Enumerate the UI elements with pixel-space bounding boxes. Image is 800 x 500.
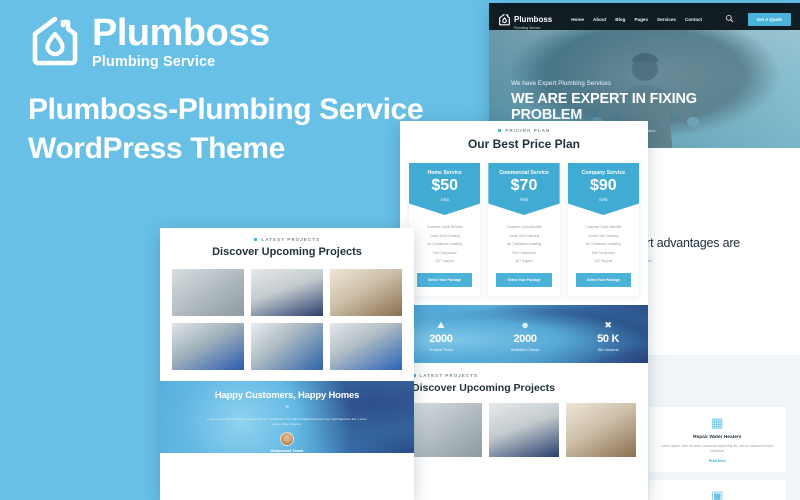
pricing-eyebrow-label: PRICING PLAN: [505, 128, 550, 133]
projects-eyebrow-label: LATEST PROJECTS: [261, 237, 320, 242]
project-image[interactable]: [251, 269, 323, 316]
plan-name: Home Service: [411, 170, 478, 176]
house-waterdrop-icon: [498, 13, 511, 26]
service-read-more[interactable]: Read More: [656, 459, 780, 463]
helmet-icon: ⛰: [429, 321, 453, 330]
nav-item-blog[interactable]: Blog: [615, 17, 625, 22]
testimonial-title: Happy Customers, Happy Homes: [160, 390, 414, 401]
plumber-holding-hose-photo: [330, 323, 402, 370]
counter-item: ☻ 2000 Satisfied Clients: [511, 321, 540, 352]
project-image[interactable]: [489, 403, 559, 457]
quote-icon: ❝: [160, 405, 414, 413]
project-image[interactable]: [566, 403, 636, 457]
logo-row: Plumboss Plumbing Service: [28, 12, 478, 70]
plumber-with-tools-photo: [489, 403, 559, 457]
pricing-header: PRICING PLAN Our Best Price Plan: [400, 121, 648, 155]
project-image[interactable]: [330, 323, 402, 370]
counter-value: 2000: [511, 333, 540, 345]
counters-section: ⛰ 2000 Trusted Team ☻ 2000 Satisfied Cli…: [400, 305, 648, 363]
counter-label: Win Awards: [597, 347, 619, 352]
nav-links: Home About Blog Pages Services Contact: [571, 17, 702, 22]
projects-title: Discover Upcoming Projects: [160, 246, 414, 258]
plan-name: Company Service: [570, 170, 637, 176]
plan-features: Customer Cyclic Benefits Cooler Duct Cle…: [488, 215, 559, 269]
counter-item: ✖ 50 K Win Awards: [597, 321, 619, 352]
select-package-button[interactable]: Select Your Package: [576, 273, 632, 287]
plan-period: /visit: [570, 197, 637, 202]
pricing-card: Home Service $50 /visit Customer Cyclic …: [409, 163, 480, 296]
hero-subtitle: We have Expert Plumbing Services: [511, 80, 726, 87]
plumber-fixing-pipe-photo: [172, 323, 244, 370]
counter-item: ⛰ 2000 Trusted Team: [429, 321, 453, 352]
pricing-grid: Home Service $50 /visit Customer Cyclic …: [400, 155, 648, 296]
select-package-button[interactable]: Select Your Package: [417, 273, 473, 287]
list-item: Cooler Duct Cleaning: [492, 234, 555, 238]
eyebrow-square-icon: [254, 238, 258, 242]
list-item: Test Compressor: [413, 251, 476, 255]
poster-stage: Plumboss Plumbing Service Plumboss-Plumb…: [0, 0, 800, 500]
pricing-card-header: Commercial Service $70 /visit: [488, 163, 559, 215]
hero-title: WE ARE EXPERT IN FIXING PROBLEM: [511, 91, 726, 124]
project-image[interactable]: [251, 323, 323, 370]
nav-item-about[interactable]: About: [593, 17, 606, 22]
nav-logo-name: Plumboss: [514, 15, 552, 24]
testimonial-name: Muhammad Tanvir: [160, 449, 414, 453]
testimonial-section: Happy Customers, Happy Homes ❝ Lorem ips…: [160, 381, 414, 453]
plumber-with-tools-photo: [251, 269, 323, 316]
plumber-under-sink-photo: [172, 269, 244, 316]
pricing-card: Company Service $90 /visit Customer Cycl…: [568, 163, 639, 296]
select-package-button[interactable]: Select Your Package: [496, 273, 552, 287]
list-item: Customer Cyclic Benefits: [413, 225, 476, 229]
counter-label: Trusted Team: [429, 347, 453, 352]
avatar: [280, 432, 294, 446]
plan-price: $70: [490, 178, 557, 194]
list-item: Air Conditioner Installing: [413, 242, 476, 246]
counter-value: 50 K: [597, 333, 619, 345]
project-image[interactable]: [172, 269, 244, 316]
testimonial-text: Lorem ipsum dolor sit amet, cons ectetur…: [207, 417, 367, 427]
service-text: Lorem ipsum dolor sit amet, consectet ad…: [656, 444, 780, 455]
brand-tagline: Plumbing Service: [92, 54, 270, 70]
testimonial-content: Happy Customers, Happy Homes ❝ Lorem ips…: [160, 381, 414, 453]
pricing-eyebrow: PRICING PLAN: [400, 128, 648, 133]
list-item: Air Conditioner Installing: [572, 242, 635, 246]
brand-name: Plumboss: [92, 15, 270, 51]
eyebrow-square-icon: [498, 129, 502, 133]
projects-grid: [412, 403, 636, 457]
couple-in-kitchen-photo: [566, 403, 636, 457]
water-heater-icon: ▦: [656, 416, 780, 429]
nav-item-services[interactable]: Services: [657, 17, 676, 22]
nav-item-pages[interactable]: Pages: [634, 17, 648, 22]
pricing-card-header: Company Service $90 /visit: [568, 163, 639, 215]
counter-value: 2000: [429, 333, 453, 345]
plan-features: Customer Cyclic Benefits Cooler Duct Cle…: [409, 215, 480, 269]
list-item: 24/7 Support: [572, 259, 635, 263]
projects-eyebrow: LATEST PROJECTS: [412, 373, 636, 378]
service-card[interactable]: ▦ Repair Water Heaters Lorem ipsum dolor…: [649, 407, 787, 473]
list-item: Cooler Duct Cleaning: [572, 234, 635, 238]
nav-logo[interactable]: Plumboss Plumbing Service: [498, 9, 552, 31]
plumber-under-sink-photo: [412, 403, 482, 457]
plumber-with-wrench-photo: [251, 323, 323, 370]
plan-price: $90: [570, 178, 637, 194]
projects-grid-left: [160, 260, 414, 370]
list-item: Air Conditioner Installing: [492, 242, 555, 246]
pricing-card-header: Home Service $50 /visit: [409, 163, 480, 215]
list-item: Customer Cyclic Benefits: [492, 225, 555, 229]
house-waterdrop-icon: [28, 14, 82, 68]
projects-preview-panel: LATEST PROJECTS Discover Upcoming Projec…: [160, 228, 414, 500]
clients-icon: ☻: [511, 321, 540, 330]
counters-row: ⛰ 2000 Trusted Team ☻ 2000 Satisfied Cli…: [400, 305, 648, 363]
site-navbar: Plumboss Plumbing Service Home About Blo…: [489, 9, 800, 30]
projects-section-center: LATEST PROJECTS Discover Upcoming Projec…: [400, 363, 648, 457]
get-a-quote-button[interactable]: Get A Quote: [748, 13, 791, 26]
pricing-preview-panel: PRICING PLAN Our Best Price Plan Home Se…: [400, 121, 648, 500]
plan-price: $50: [411, 178, 478, 194]
service-title: Repair Water Heaters: [656, 435, 780, 440]
service-card[interactable]: ▣ Toilet Repair Lorem ipsum dolor sit am…: [649, 480, 787, 500]
list-item: Customer Cyclic Benefits: [572, 225, 635, 229]
pricing-card: Commercial Service $70 /visit Customer C…: [488, 163, 559, 296]
tools-icon: ✖: [597, 321, 619, 330]
project-image[interactable]: [412, 403, 482, 457]
pricing-title: Our Best Price Plan: [400, 137, 648, 151]
toilet-icon: ▣: [656, 489, 780, 500]
couple-in-kitchen-photo: [330, 269, 402, 316]
projects-header-left: LATEST PROJECTS Discover Upcoming Projec…: [160, 228, 414, 260]
logo-text: Plumboss Plumbing Service: [92, 12, 270, 70]
plan-period: /visit: [411, 197, 478, 202]
list-item: 24/7 Support: [413, 259, 476, 263]
projects-title: Discover Upcoming Projects: [412, 382, 636, 394]
projects-eyebrow-label: LATEST PROJECTS: [420, 373, 479, 378]
list-item: 24/7 Support: [492, 259, 555, 263]
list-item: Test Compressor: [492, 251, 555, 255]
search-icon[interactable]: [725, 14, 734, 25]
plan-period: /visit: [490, 197, 557, 202]
nav-item-contact[interactable]: Contact: [685, 17, 702, 22]
list-item: Test Compressor: [572, 251, 635, 255]
plan-features: Customer Cyclic Benefits Cooler Duct Cle…: [568, 215, 639, 269]
counter-label: Satisfied Clients: [511, 347, 540, 352]
project-image[interactable]: [330, 269, 402, 316]
projects-eyebrow: LATEST PROJECTS: [160, 237, 414, 242]
project-image[interactable]: [172, 323, 244, 370]
nav-item-home[interactable]: Home: [571, 17, 584, 22]
list-item: Cooler Duct Cleaning: [413, 234, 476, 238]
plan-name: Commercial Service: [490, 170, 557, 176]
